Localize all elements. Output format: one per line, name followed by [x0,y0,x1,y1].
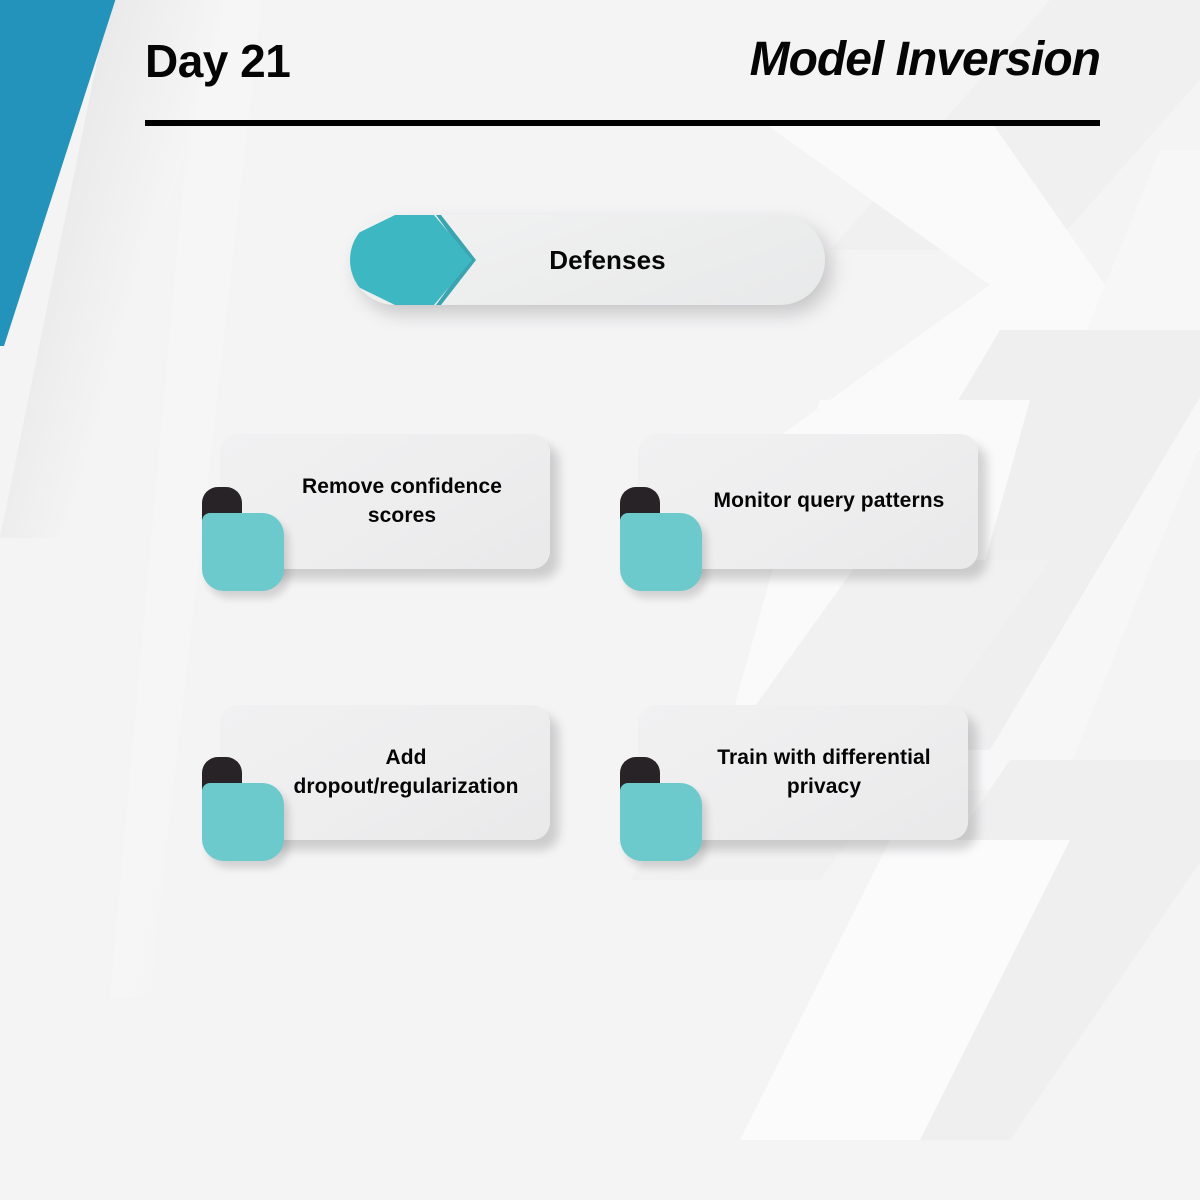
card-badge-teal [202,513,284,591]
section-pill-label: Defenses [509,245,665,276]
topic-title: Model Inversion [750,36,1100,84]
defense-card-text: Train with differential privacy [696,744,952,801]
day-label: Day 21 [145,38,290,84]
slide-footer: Mohammad Arif www.linkedin.com/in/mohd--… [0,1090,1200,1200]
section-pill: Defenses [350,215,825,305]
header-divider [145,120,1100,126]
card-badge-teal [202,783,284,861]
background-decoration [0,0,1200,1200]
slide-header: Day 21 Model Inversion [145,36,1100,84]
defense-card-text: Add dropout/regularization [278,744,534,801]
chevron-watermark-a [760,120,1200,450]
card-badge-teal [620,783,702,861]
slide-canvas: Day 21 Model Inversion Defenses Remove c… [0,0,1200,1200]
defense-card-text: Remove confidence scores [274,473,530,530]
card-badge-teal [620,513,702,591]
left-blue-wedge [0,0,148,348]
defense-card-text: Monitor query patterns [714,487,945,515]
